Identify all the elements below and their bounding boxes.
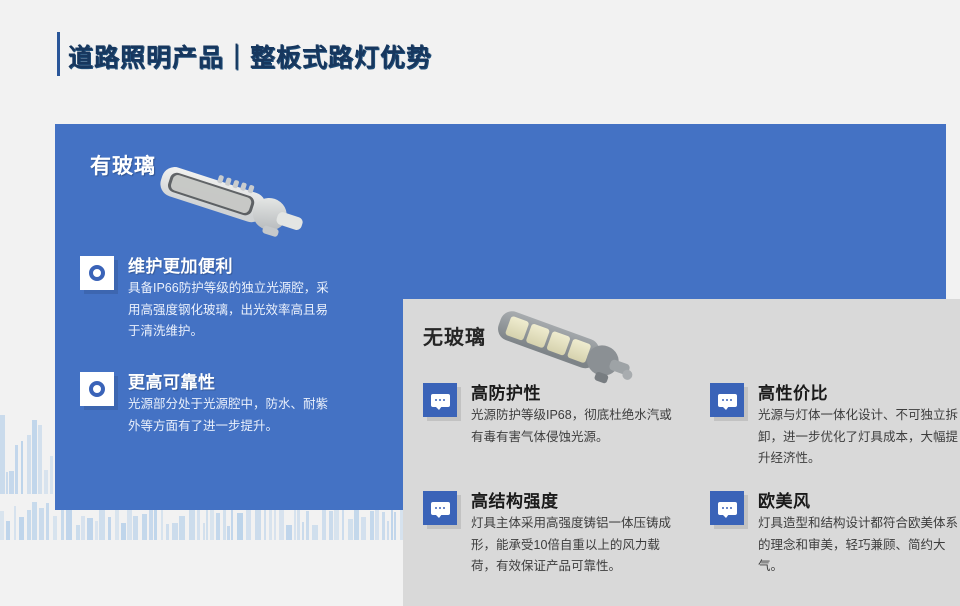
barcode-bar bbox=[370, 511, 374, 540]
barcode-bar bbox=[189, 509, 195, 540]
barcode-bar bbox=[53, 516, 57, 540]
comparison-panel-gray: 无玻璃 bbox=[403, 299, 960, 606]
barcode-bar bbox=[27, 510, 31, 540]
barcode-bar bbox=[387, 521, 389, 540]
barcode-bar bbox=[14, 506, 16, 540]
feature-body: 光源部分处于光源腔中，防水、耐紫外等方面有了进一步提升。 bbox=[128, 394, 340, 437]
barcode-bar bbox=[81, 516, 85, 540]
barcode-bar bbox=[115, 510, 119, 540]
ring-icon bbox=[80, 256, 114, 290]
barcode-bar bbox=[297, 508, 300, 540]
barcode-bar bbox=[172, 523, 178, 540]
barcode-bar bbox=[286, 525, 292, 540]
feature-heading: 高性价比 bbox=[758, 379, 828, 404]
feature-body: 灯具造型和结构设计都符合欧美体系的理念和审美，轻巧兼顾、简约大气。 bbox=[758, 513, 960, 578]
barcode-bar bbox=[302, 522, 304, 540]
right-panel-heading: 无玻璃 bbox=[423, 321, 486, 350]
feature-heading: 高防护性 bbox=[471, 379, 541, 404]
barcode-bar bbox=[306, 511, 309, 540]
barcode-bar bbox=[15, 445, 18, 494]
barcode-bar bbox=[329, 511, 333, 540]
chat-bubble-icon bbox=[710, 383, 744, 417]
barcode-bar bbox=[149, 510, 153, 540]
barcode-bar bbox=[161, 507, 163, 540]
barcode-bar bbox=[210, 505, 214, 540]
barcode-bar bbox=[6, 521, 10, 540]
barcode-bar bbox=[9, 471, 14, 494]
barcode-bar bbox=[87, 518, 93, 540]
street-lamp-without-glass-image bbox=[491, 304, 641, 389]
barcode-bar bbox=[76, 525, 80, 540]
feature-heading: 更高可靠性 bbox=[128, 368, 216, 393]
barcode-bar bbox=[142, 514, 147, 540]
barcode-bar bbox=[32, 420, 37, 494]
barcode-bar bbox=[342, 508, 344, 540]
barcode-bar bbox=[133, 516, 138, 540]
ring-icon bbox=[80, 372, 114, 406]
barcode-bar bbox=[394, 512, 396, 540]
barcode-bar bbox=[38, 425, 42, 494]
barcode-bar bbox=[334, 508, 339, 540]
feature-body: 光源防护等级IP68，彻底杜绝水汽或有毒有害气体侵蚀光源。 bbox=[471, 405, 683, 448]
barcode-bar bbox=[32, 502, 37, 540]
barcode-bar bbox=[179, 516, 185, 540]
chat-bubble-icon bbox=[423, 491, 457, 525]
barcode-bar bbox=[21, 441, 23, 494]
barcode-bar bbox=[203, 523, 205, 540]
barcode-bar bbox=[348, 519, 353, 540]
barcode-bar bbox=[95, 521, 98, 540]
feature-body: 光源与灯体一体化设计、不可独立拆卸，进一步优化了灯具成本，大幅提升经济性。 bbox=[758, 405, 960, 470]
feature-heading: 欧美风 bbox=[758, 487, 811, 512]
slide-root: 道路照明产品｜整板式路灯优势 有玻璃 bbox=[0, 0, 960, 540]
barcode-bar bbox=[121, 523, 126, 540]
street-lamp-with-glass-image bbox=[150, 154, 310, 244]
barcode-bar bbox=[108, 517, 111, 540]
barcode-bar bbox=[50, 456, 53, 494]
feature-heading: 高结构强度 bbox=[471, 487, 559, 512]
barcode-bar bbox=[166, 524, 169, 540]
barcode-bar bbox=[312, 525, 318, 540]
barcode-bar bbox=[46, 503, 49, 540]
barcode-bar bbox=[197, 510, 200, 540]
barcode-bar bbox=[255, 506, 261, 540]
barcode-bar bbox=[27, 435, 31, 494]
feature-body: 灯具主体采用高强度铸铝一体压铸成形，能承受10倍自重以上的风力载荷，有效保证产品… bbox=[471, 513, 683, 578]
barcode-bar bbox=[206, 506, 208, 540]
barcode-bar bbox=[0, 511, 4, 540]
barcode-bar bbox=[227, 526, 230, 540]
barcode-bar bbox=[99, 508, 105, 540]
barcode-bar bbox=[19, 517, 24, 540]
barcode-bar bbox=[382, 512, 385, 540]
chat-bubble-icon bbox=[423, 383, 457, 417]
barcode-bar bbox=[361, 517, 366, 540]
barcode-bar bbox=[237, 513, 243, 540]
comparison-panel-blue: 有玻璃 bbox=[55, 124, 946, 510]
barcode-bar bbox=[44, 470, 48, 494]
barcode-bar bbox=[216, 513, 220, 540]
feature-body: 具备IP66防护等级的独立光源腔，采用高强度钢化玻璃，出光效率高且易于清洗维护。 bbox=[128, 278, 340, 343]
barcode-bar bbox=[6, 472, 8, 494]
chat-bubble-icon bbox=[710, 491, 744, 525]
barcode-bar bbox=[127, 506, 132, 540]
barcode-bar bbox=[39, 508, 44, 540]
left-panel-heading: 有玻璃 bbox=[90, 150, 156, 180]
page-title: 道路照明产品｜整板式路灯优势 bbox=[68, 38, 432, 74]
title-accent-bar bbox=[57, 32, 60, 76]
barcode-bar bbox=[0, 415, 5, 494]
feature-heading: 维护更加便利 bbox=[128, 252, 233, 277]
